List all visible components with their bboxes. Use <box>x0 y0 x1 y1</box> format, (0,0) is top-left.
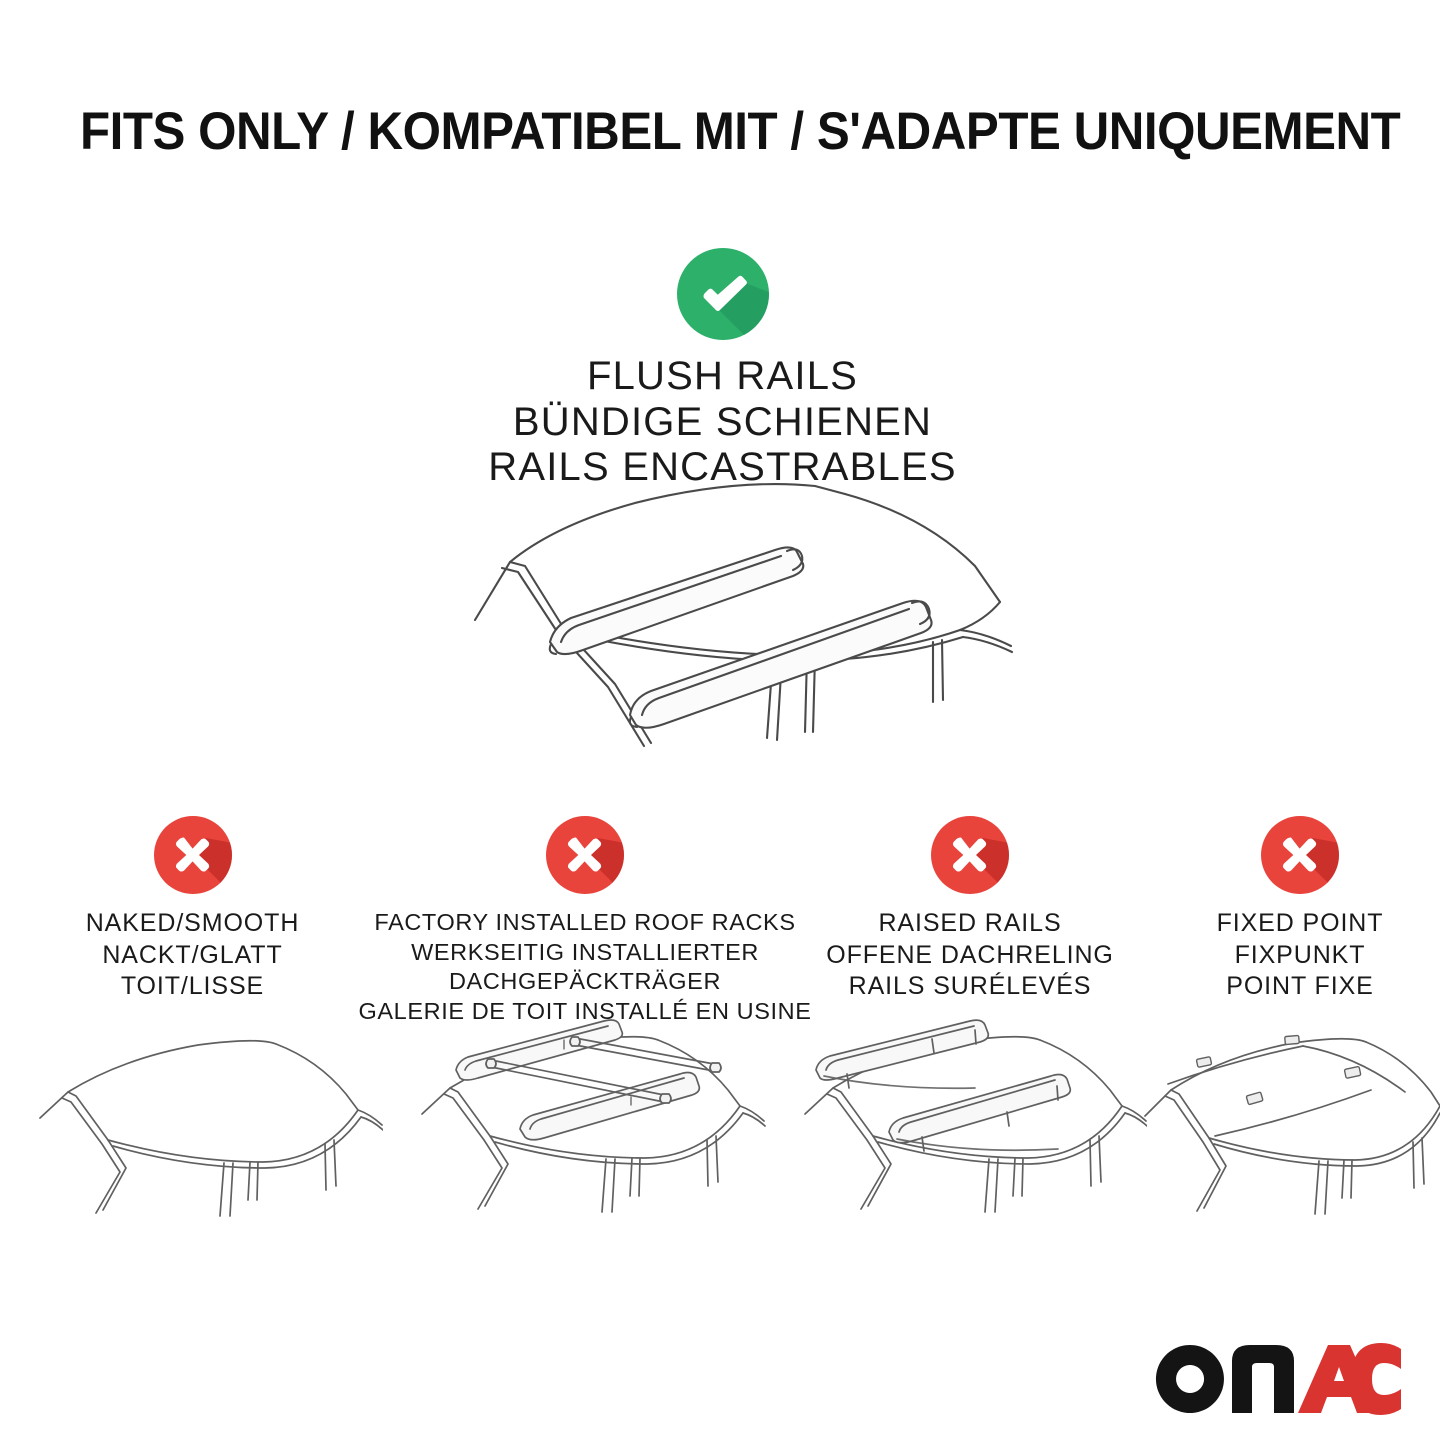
incompatible-section: NAKED/SMOOTH NACKT/GLATT TOIT/LISSE FACT… <box>0 816 1445 1026</box>
incompatible-item-raised-rails: RAISED RAILS OFFENE DACHRELING RAILS SUR… <box>785 816 1155 1003</box>
omac-logo <box>1148 1339 1403 1419</box>
red-x-circle-icon <box>154 816 232 894</box>
compatible-label-de: BÜNDIGE SCHIENEN <box>0 400 1445 446</box>
incompatible-label-de: NACKT/GLATT <box>86 940 300 972</box>
incompatible-item-fixed-point: FIXED POINT FIXPUNKT POINT FIXE <box>1155 816 1445 1003</box>
incompatible-labels: FIXED POINT FIXPUNKT POINT FIXE <box>1217 908 1384 1003</box>
page-title: FITS ONLY / KOMPATIBEL MIT / S'ADAPTE UN… <box>80 104 1280 160</box>
compatible-label-en: FLUSH RAILS <box>0 354 1445 400</box>
incompatible-label-en: FACTORY INSTALLED ROOF RACKS <box>359 908 812 938</box>
red-x-circle-icon <box>546 816 624 894</box>
green-check-circle-icon <box>677 248 769 340</box>
car-roof-raised-rails-illustration <box>792 1010 1147 1220</box>
incompatible-item-naked-smooth: NAKED/SMOOTH NACKT/GLATT TOIT/LISSE <box>0 816 385 1003</box>
incompatible-labels: NAKED/SMOOTH NACKT/GLATT TOIT/LISSE <box>86 908 300 1003</box>
compatible-section: FLUSH RAILS BÜNDIGE SCHIENEN RAILS ENCAS… <box>0 248 1445 491</box>
car-roof-flush-rails-illustration <box>455 470 1015 770</box>
incompatible-label-en: RAISED RAILS <box>826 908 1114 940</box>
car-roof-factory-rack-illustration <box>408 1004 768 1220</box>
car-roof-fixed-point-illustration <box>1135 1020 1440 1220</box>
incompatible-labels: RAISED RAILS OFFENE DACHRELING RAILS SUR… <box>826 908 1114 1003</box>
incompatible-label-fr: RAILS SURÉLEVÉS <box>826 971 1114 1003</box>
incompatible-label-fr: POINT FIXE <box>1217 971 1384 1003</box>
incompatible-label-en: NAKED/SMOOTH <box>86 908 300 940</box>
incompatible-label-en: FIXED POINT <box>1217 908 1384 940</box>
red-x-circle-icon <box>1261 816 1339 894</box>
car-roof-naked-illustration <box>28 1020 383 1220</box>
red-x-circle-icon <box>931 816 1009 894</box>
incompatible-label-de: OFFENE DACHRELING <box>826 940 1114 972</box>
compatibility-infographic: FITS ONLY / KOMPATIBEL MIT / S'ADAPTE UN… <box>0 0 1445 1445</box>
incompatible-label-fr: TOIT/LISSE <box>86 971 300 1003</box>
incompatible-label-de-1: WERKSEITIG INSTALLIERTER <box>359 938 812 968</box>
incompatible-label-de: FIXPUNKT <box>1217 940 1384 972</box>
incompatible-label-de-2: DACHGEPÄCKTRÄGER <box>359 967 812 997</box>
incompatible-item-factory-roof-racks: FACTORY INSTALLED ROOF RACKS WERKSEITIG … <box>385 816 785 1026</box>
